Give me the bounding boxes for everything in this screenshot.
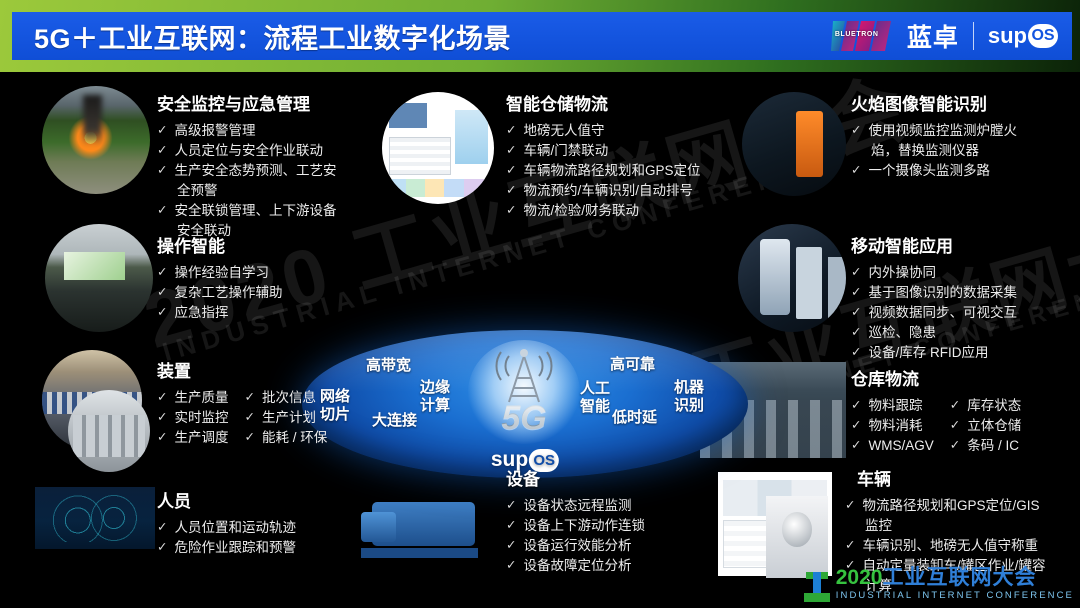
image-tank-farm (68, 390, 150, 472)
warehouse-col-1: ✓物料跟踪 ✓物料消耗 ✓WMS/AGV (851, 396, 934, 456)
list-item-text: 车辆识别、地磅无人值守称重 (862, 536, 1077, 555)
logo-divider (973, 22, 974, 50)
list-item: ✓物料消耗 (851, 416, 934, 435)
list-item: ✓车辆物流路径规划和GPS定位 (506, 161, 744, 180)
list-item-text: 能耗 / 环保 (262, 428, 327, 447)
block-warehouse-logistics-list: ✓地磅无人值守 ✓车辆/门禁联动 ✓车辆物流路径规划和GPS定位 ✓物流预约/车… (506, 121, 744, 220)
list-item: ✓物流/检验/财务联动 (506, 201, 744, 220)
check-icon: ✓ (244, 388, 254, 407)
block-warehouse-title: 仓库物流 (851, 365, 1076, 390)
list-item-text: 物料跟踪 (868, 396, 933, 415)
dashboard-chart (455, 110, 489, 164)
label-artificial-intelligence: 人工智能 (580, 380, 610, 416)
list-item: ✓设备运行效能分析 (506, 536, 726, 555)
block-personnel-list: ✓人员位置和运动轨迹 ✓危险作业跟踪和预警 (157, 518, 372, 557)
check-icon: ✓ (506, 556, 516, 575)
check-icon: ✓ (157, 408, 167, 427)
check-icon: ✓ (506, 536, 516, 555)
list-item-text: 焰，替换监测仪器 (871, 141, 1071, 160)
check-icon: ✓ (506, 201, 516, 220)
list-item-text: 物流/检验/财务联动 (523, 201, 744, 220)
conference-name-en: INDUSTRIAL INTERNET CONFERENCE (836, 589, 1074, 602)
check-icon: ✓ (851, 323, 861, 342)
list-item-text: 高级报警管理 (174, 121, 372, 140)
block-flame-recognition: 火焰图像智能识别 ✓使用视频监控监测炉膛火 焰，替换监测仪器 ✓一个摄像头监测多… (851, 90, 1071, 181)
check-icon: ✓ (157, 283, 167, 302)
pump-base (361, 548, 478, 558)
supos-os-badge: OS (1028, 24, 1058, 48)
check-icon: ✓ (950, 436, 960, 455)
list-item-text: 全预警 (177, 181, 372, 200)
list-item: ✓视频数据同步、可视交互 (851, 303, 1071, 322)
check-icon: ✓ (851, 263, 861, 282)
check-icon: ✓ (845, 536, 855, 555)
block-equipment-title: 设备 (506, 465, 726, 490)
5g-tower-icon: 5G (472, 342, 576, 442)
list-item: ✓设备故障定位分析 (506, 556, 726, 575)
check-icon: ✓ (157, 388, 167, 407)
list-item-text: 立体仓储 (967, 416, 1021, 435)
list-item-text: 复杂工艺操作辅助 (174, 283, 372, 302)
list-item-continuation: 监控 (845, 516, 1077, 535)
check-icon: ✓ (157, 141, 167, 160)
block-safety-title: 安全监控与应急管理 (157, 90, 372, 115)
image-mobile-devices (738, 224, 846, 332)
list-item: ✓能耗 / 环保 (244, 428, 327, 447)
list-item-text: 设备状态远程监测 (523, 496, 726, 515)
list-item-text: 内外操协同 (868, 263, 1071, 282)
bluetron-mark-icon: BLUETRON (831, 19, 897, 53)
list-item: ✓库存状态 (950, 396, 1021, 415)
list-item-continuation: 全预警 (157, 181, 372, 200)
block-warehouse-logistics: 智能仓储物流 ✓地磅无人值守 ✓车辆/门禁联动 ✓车辆物流路径规划和GPS定位 … (506, 90, 744, 221)
block-vehicle-title: 车辆 (857, 465, 1077, 490)
warehouse-col-2: ✓库存状态 ✓立体仓储 ✓条码 / IC (950, 396, 1021, 456)
header-logo-group: BLUETRON 蓝卓 sup OS (831, 18, 1058, 54)
supos-sup-text: sup (988, 23, 1027, 49)
check-icon: ✓ (851, 416, 861, 435)
image-fire-incident (42, 86, 150, 194)
block-operation: 操作智能 ✓操作经验自学习 ✓复杂工艺操作辅助 ✓应急指挥 (157, 232, 372, 323)
list-item: ✓物流路径规划和GPS定位/GIS (845, 496, 1077, 515)
block-personnel-title: 人员 (157, 487, 372, 512)
check-icon: ✓ (157, 303, 167, 322)
image-control-room (45, 224, 153, 332)
check-icon: ✓ (157, 518, 167, 537)
check-icon: ✓ (845, 496, 855, 515)
tower-5g-label: 5G (501, 399, 546, 438)
list-item: ✓内外操协同 (851, 263, 1071, 282)
check-icon: ✓ (506, 181, 516, 200)
check-icon: ✓ (851, 396, 861, 415)
list-item-text: 视频数据同步、可视交互 (868, 303, 1071, 322)
list-item-text: 一个摄像头监测多路 (868, 161, 1071, 180)
label-edge-computing: 边缘计算 (420, 379, 450, 415)
check-icon: ✓ (506, 496, 516, 515)
list-item: ✓物料跟踪 (851, 396, 934, 415)
check-icon: ✓ (851, 161, 861, 180)
check-icon: ✓ (157, 201, 167, 220)
check-icon: ✓ (851, 343, 861, 362)
check-icon: ✓ (506, 121, 516, 140)
check-icon: ✓ (157, 161, 167, 180)
list-item-text: 地磅无人值守 (523, 121, 744, 140)
check-icon: ✓ (851, 283, 861, 302)
conference-name-cn: 工业互联网大会 (882, 566, 1036, 589)
check-icon: ✓ (851, 436, 861, 455)
list-item-text: 生产计划 (262, 408, 327, 427)
list-item: ✓生产调度 (157, 428, 228, 447)
bluetron-wordmark: BLUETRON (835, 31, 879, 38)
list-item-text: 人员位置和运动轨迹 (174, 518, 372, 537)
list-item-text: 操作经验自学习 (174, 263, 372, 282)
list-item-text: 生产质量 (174, 388, 228, 407)
list-item-text: 生产调度 (174, 428, 228, 447)
list-item-text: 车辆物流路径规划和GPS定位 (523, 161, 744, 180)
list-item-text: 设备运行效能分析 (523, 536, 726, 555)
list-item: ✓基于图像识别的数据采集 (851, 283, 1071, 302)
list-item-text: 设备故障定位分析 (523, 556, 726, 575)
label-high-reliability: 高可靠 (610, 356, 655, 374)
brand-cn-label: 蓝卓 (907, 18, 959, 54)
block-warehouse-logistics-title: 智能仓储物流 (506, 90, 744, 115)
list-item-text: WMS/AGV (868, 436, 933, 455)
label-low-latency: 低时延 (612, 409, 657, 427)
label-machine-recognition: 机器识别 (674, 379, 704, 415)
list-item: ✓设备状态远程监测 (506, 496, 726, 515)
list-item: ✓物流预约/车辆识别/自动排号 (506, 181, 744, 200)
list-item-text: 车辆/门禁联动 (523, 141, 744, 160)
page-header: 5G＋工业互联网：流程工业数字化场景 (0, 0, 1080, 72)
list-item-text: 生产安全态势预测、工艺安 (174, 161, 372, 180)
check-icon: ✓ (157, 263, 167, 282)
block-equipment: 设备 ✓设备状态远程监测 ✓设备上下游动作连锁 ✓设备运行效能分析 ✓设备故障定… (506, 465, 726, 576)
list-item: ✓实时监控 (157, 408, 228, 427)
block-flame-recognition-title: 火焰图像智能识别 (851, 90, 1071, 115)
list-item: ✓操作经验自学习 (157, 263, 372, 282)
block-mobile-apps: 移动智能应用 ✓内外操协同 ✓基于图像识别的数据采集 ✓视频数据同步、可视交互 … (851, 232, 1071, 363)
list-item-text: 物料消耗 (868, 416, 933, 435)
list-item-text: 物流路径规划和GPS定位/GIS (862, 496, 1077, 515)
check-icon: ✓ (244, 428, 254, 447)
list-item-text: 库存状态 (967, 396, 1021, 415)
list-item-text: 监控 (865, 516, 1077, 535)
list-item: ✓危险作业跟踪和预警 (157, 538, 372, 557)
check-icon: ✓ (950, 396, 960, 415)
list-item-text: 设备上下游动作连锁 (523, 516, 726, 535)
device-unit-col-2: ✓批次信息 ✓生产计划 ✓能耗 / 环保 (244, 388, 327, 448)
list-item-text: 危险作业跟踪和预警 (174, 538, 372, 557)
mark-stem (813, 572, 821, 594)
list-item-text: 使用视频监控监测炉膛火 (868, 121, 1071, 140)
check-icon: ✓ (244, 408, 254, 427)
image-handheld-terminal (742, 92, 846, 196)
block-personnel: 人员 ✓人员位置和运动轨迹 ✓危险作业跟踪和预警 (157, 487, 372, 558)
slide-body: 2020 工业互联网大会 INDUSTRIAL INTERNET CONFERE… (0, 72, 1080, 608)
list-item: ✓条码 / IC (950, 436, 1021, 455)
list-item-text: 设备/库存 RFID应用 (868, 343, 1071, 362)
list-item: ✓人员定位与安全作业联动 (157, 141, 372, 160)
mark-base (804, 593, 830, 602)
conference-title-line: 2020工业互联网大会 (836, 567, 1074, 589)
list-item-text: 应急指挥 (174, 303, 372, 322)
check-icon: ✓ (506, 516, 516, 535)
list-item-text: 实时监控 (174, 408, 228, 427)
check-icon: ✓ (506, 161, 516, 180)
block-warehouse: 仓库物流 ✓物料跟踪 ✓物料消耗 ✓WMS/AGV ✓库存状态 ✓立体仓储 ✓条… (851, 365, 1076, 456)
list-item-text: 基于图像识别的数据采集 (868, 283, 1071, 302)
block-mobile-apps-list: ✓内外操协同 ✓基于图像识别的数据采集 ✓视频数据同步、可视交互 ✓巡检、隐患 … (851, 263, 1071, 362)
list-item: ✓地磅无人值守 (506, 121, 744, 140)
list-item: ✓设备/库存 RFID应用 (851, 343, 1071, 362)
list-item: ✓复杂工艺操作辅助 (157, 283, 372, 302)
page-title: 5G＋工业互联网：流程工业数字化场景 (34, 17, 511, 56)
block-operation-title: 操作智能 (157, 232, 372, 257)
list-item: ✓批次信息 (244, 388, 327, 407)
dashboard-truck-photo (389, 103, 427, 128)
conference-text: 2020工业互联网大会 INDUSTRIAL INTERNET CONFEREN… (836, 567, 1074, 602)
conference-year: 2020 (836, 566, 883, 589)
conference-mark-icon (804, 572, 830, 602)
list-item: ✓生产计划 (244, 408, 327, 427)
list-item: ✓使用视频监控监测炉膛火 (851, 121, 1071, 140)
block-operation-list: ✓操作经验自学习 ✓复杂工艺操作辅助 ✓应急指挥 (157, 263, 372, 322)
list-item: ✓一个摄像头监测多路 (851, 161, 1071, 180)
list-item-continuation: 焰，替换监测仪器 (851, 141, 1071, 160)
check-icon: ✓ (157, 121, 167, 140)
supos-logo: sup OS (988, 23, 1058, 49)
list-item: ✓设备上下游动作连锁 (506, 516, 726, 535)
list-item: ✓立体仓储 (950, 416, 1021, 435)
list-item: ✓WMS/AGV (851, 436, 934, 455)
list-item: ✓车辆识别、地磅无人值守称重 (845, 536, 1077, 555)
list-item-text: 批次信息 (262, 388, 327, 407)
check-icon: ✓ (851, 303, 861, 322)
list-item: ✓安全联锁管理、上下游设备 (157, 201, 372, 220)
block-mobile-apps-title: 移动智能应用 (851, 232, 1071, 257)
image-control-panel (766, 496, 828, 578)
list-item: ✓高级报警管理 (157, 121, 372, 140)
list-item: ✓巡检、隐患 (851, 323, 1071, 342)
check-icon: ✓ (506, 141, 516, 160)
image-pump-unit (352, 472, 498, 572)
list-item: ✓人员位置和运动轨迹 (157, 518, 372, 537)
block-flame-recognition-list: ✓使用视频监控监测炉膛火 焰，替换监测仪器 ✓一个摄像头监测多路 (851, 121, 1071, 180)
image-personnel-tracking (35, 487, 155, 549)
dashboard-tiles (388, 179, 489, 197)
list-item-text: 条码 / IC (967, 436, 1021, 455)
block-equipment-list: ✓设备状态远程监测 ✓设备上下游动作连锁 ✓设备运行效能分析 ✓设备故障定位分析 (506, 496, 726, 575)
conference-logo: 2020工业互联网大会 INDUSTRIAL INTERNET CONFEREN… (804, 567, 1074, 602)
device-unit-col-1: ✓生产质量 ✓实时监控 ✓生产调度 (157, 388, 228, 448)
block-safety-list: ✓高级报警管理 ✓人员定位与安全作业联动 ✓生产安全态势预测、工艺安 全预警 ✓… (157, 121, 372, 240)
block-device-unit: 装置 ✓生产质量 ✓实时监控 ✓生产调度 ✓批次信息 ✓生产计划 ✓能耗 / 环… (157, 357, 392, 448)
list-item-text: 安全联锁管理、上下游设备 (174, 201, 372, 220)
list-item-text: 巡检、隐患 (868, 323, 1071, 342)
block-device-unit-title: 装置 (157, 357, 392, 382)
block-safety: 安全监控与应急管理 ✓高级报警管理 ✓人员定位与安全作业联动 ✓生产安全态势预测… (157, 90, 372, 241)
block-device-unit-columns: ✓生产质量 ✓实时监控 ✓生产调度 ✓批次信息 ✓生产计划 ✓能耗 / 环保 (157, 388, 392, 448)
list-item: ✓车辆/门禁联动 (506, 141, 744, 160)
header-bar: 5G＋工业互联网：流程工业数字化场景 (12, 12, 1072, 60)
check-icon: ✓ (950, 416, 960, 435)
block-warehouse-columns: ✓物料跟踪 ✓物料消耗 ✓WMS/AGV ✓库存状态 ✓立体仓储 ✓条码 / I… (851, 396, 1076, 456)
list-item: ✓生产质量 (157, 388, 228, 407)
dashboard-table (389, 137, 452, 175)
check-icon: ✓ (157, 428, 167, 447)
list-item: ✓生产安全态势预测、工艺安 (157, 161, 372, 180)
list-item-text: 人员定位与安全作业联动 (174, 141, 372, 160)
check-icon: ✓ (157, 538, 167, 557)
check-icon: ✓ (851, 121, 861, 140)
list-item-text: 物流预约/车辆识别/自动排号 (523, 181, 744, 200)
image-logistics-dashboard (382, 92, 494, 204)
list-item: ✓应急指挥 (157, 303, 372, 322)
